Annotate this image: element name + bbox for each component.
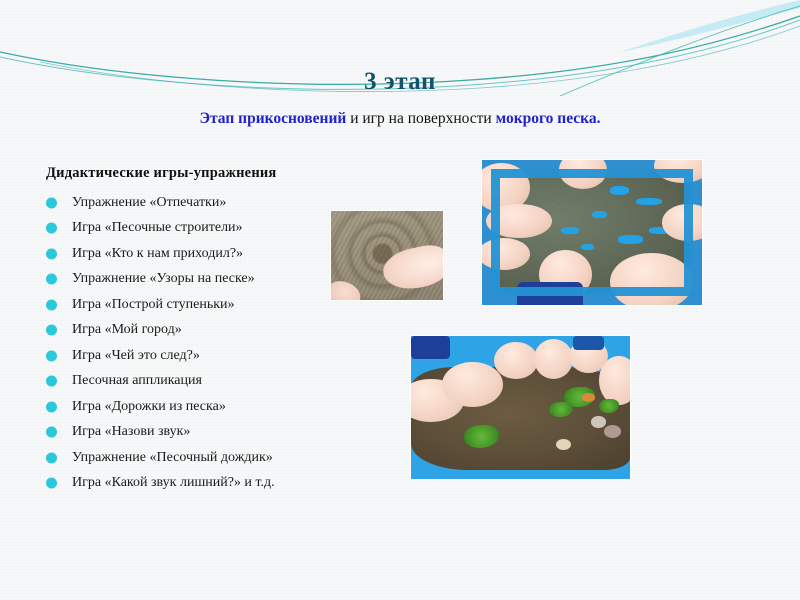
toy-plant [464,425,499,448]
child-arm [494,342,538,379]
circle-bullet-icon [46,452,57,463]
page-subtitle: Этап прикосновений и игр на поверхности … [0,110,800,128]
circle-bullet-icon [46,478,57,489]
list-item[interactable]: Игра «Песочные строители» [40,216,370,242]
circle-bullet-icon [46,248,57,259]
didactic-games-block: Дидактические игры-упражнения Упражнение… [40,165,370,496]
circle-bullet-icon [46,325,57,336]
circle-bullet-icon [46,299,57,310]
list-item-label: Игра «Мой город» [72,322,182,338]
circle-bullet-icon [46,401,57,412]
list-item-label: Игра «Песочные строители» [72,220,243,236]
subtitle-middle: и игр на поверхности [346,110,495,127]
slide-canvas: #5ec8dd 0 #7fd6e6 0 3 этап Этап прикосно… [0,0,800,600]
list-item[interactable]: Игра «Назови звук» [40,420,370,446]
list-item[interactable]: Игра «Дорожки из песка» [40,394,370,420]
photo-sandbox-surface [482,160,702,305]
list-item-label: Упражнение «Отпечатки» [72,195,226,211]
pebble [582,393,595,402]
photo-sandbox-hands [482,160,702,305]
list-item-label: Песочная аппликация [72,373,202,389]
child-arm [599,356,630,405]
list-item-label: Игра «Дорожки из песка» [72,399,226,415]
page-title: 3 этап [0,68,800,96]
hand-shape [331,277,364,300]
list-item-label: Упражнение «Узоры на песке» [72,271,255,287]
photo-modeling-surface [411,336,630,479]
photo-sand-modeling [411,336,630,479]
list-item-label: Игра «Чей это след?» [72,348,200,364]
list-item[interactable]: Упражнение «Отпечатки» [40,190,370,216]
subtitle-highlight-start: Этап прикосновений [199,110,346,127]
circle-bullet-icon [46,427,57,438]
list-item[interactable]: Игра «Какой звук лишний?» и т.д. [40,471,370,497]
list-item[interactable]: Игра «Построй ступеньки» [40,292,370,318]
pebble [591,416,606,427]
child-arm [534,339,573,379]
list-item-label: Игра «Какой звук лишний?» и т.д. [72,475,275,491]
child-clothing [411,336,450,359]
list-item[interactable]: Игра «Чей это след?» [40,343,370,369]
sandbox-rim [482,160,702,305]
list-item[interactable]: Игра «Кто к нам приходил?» [40,241,370,267]
list-item[interactable]: Игра «Мой город» [40,318,370,344]
list-item-label: Упражнение «Песочный дождик» [72,450,273,466]
pebble [604,425,622,438]
subtitle-highlight-end: мокрого песка. [496,110,601,127]
circle-bullet-icon [46,223,57,234]
hand-shape [380,242,443,295]
games-list: Упражнение «Отпечатки» Игра «Песочные ст… [40,190,370,496]
child-clothing [573,336,604,350]
list-item[interactable]: Упражнение «Узоры на песке» [40,267,370,293]
child-arm [442,362,503,408]
circle-bullet-icon [46,376,57,387]
list-item-label: Игра «Назови звук» [72,424,190,440]
list-item[interactable]: Упражнение «Песочный дождик» [40,445,370,471]
circle-bullet-icon [46,350,57,361]
list-item-label: Игра «Построй ступеньки» [72,297,235,313]
circle-bullet-icon [46,274,57,285]
list-item[interactable]: Песочная аппликация [40,369,370,395]
circle-bullet-icon [46,197,57,208]
photo-spiral-surface [331,211,443,300]
photo-spiral-in-sand [331,211,443,300]
list-heading: Дидактические игры-упражнения [46,165,370,182]
list-item-label: Игра «Кто к нам приходил?» [72,246,243,262]
